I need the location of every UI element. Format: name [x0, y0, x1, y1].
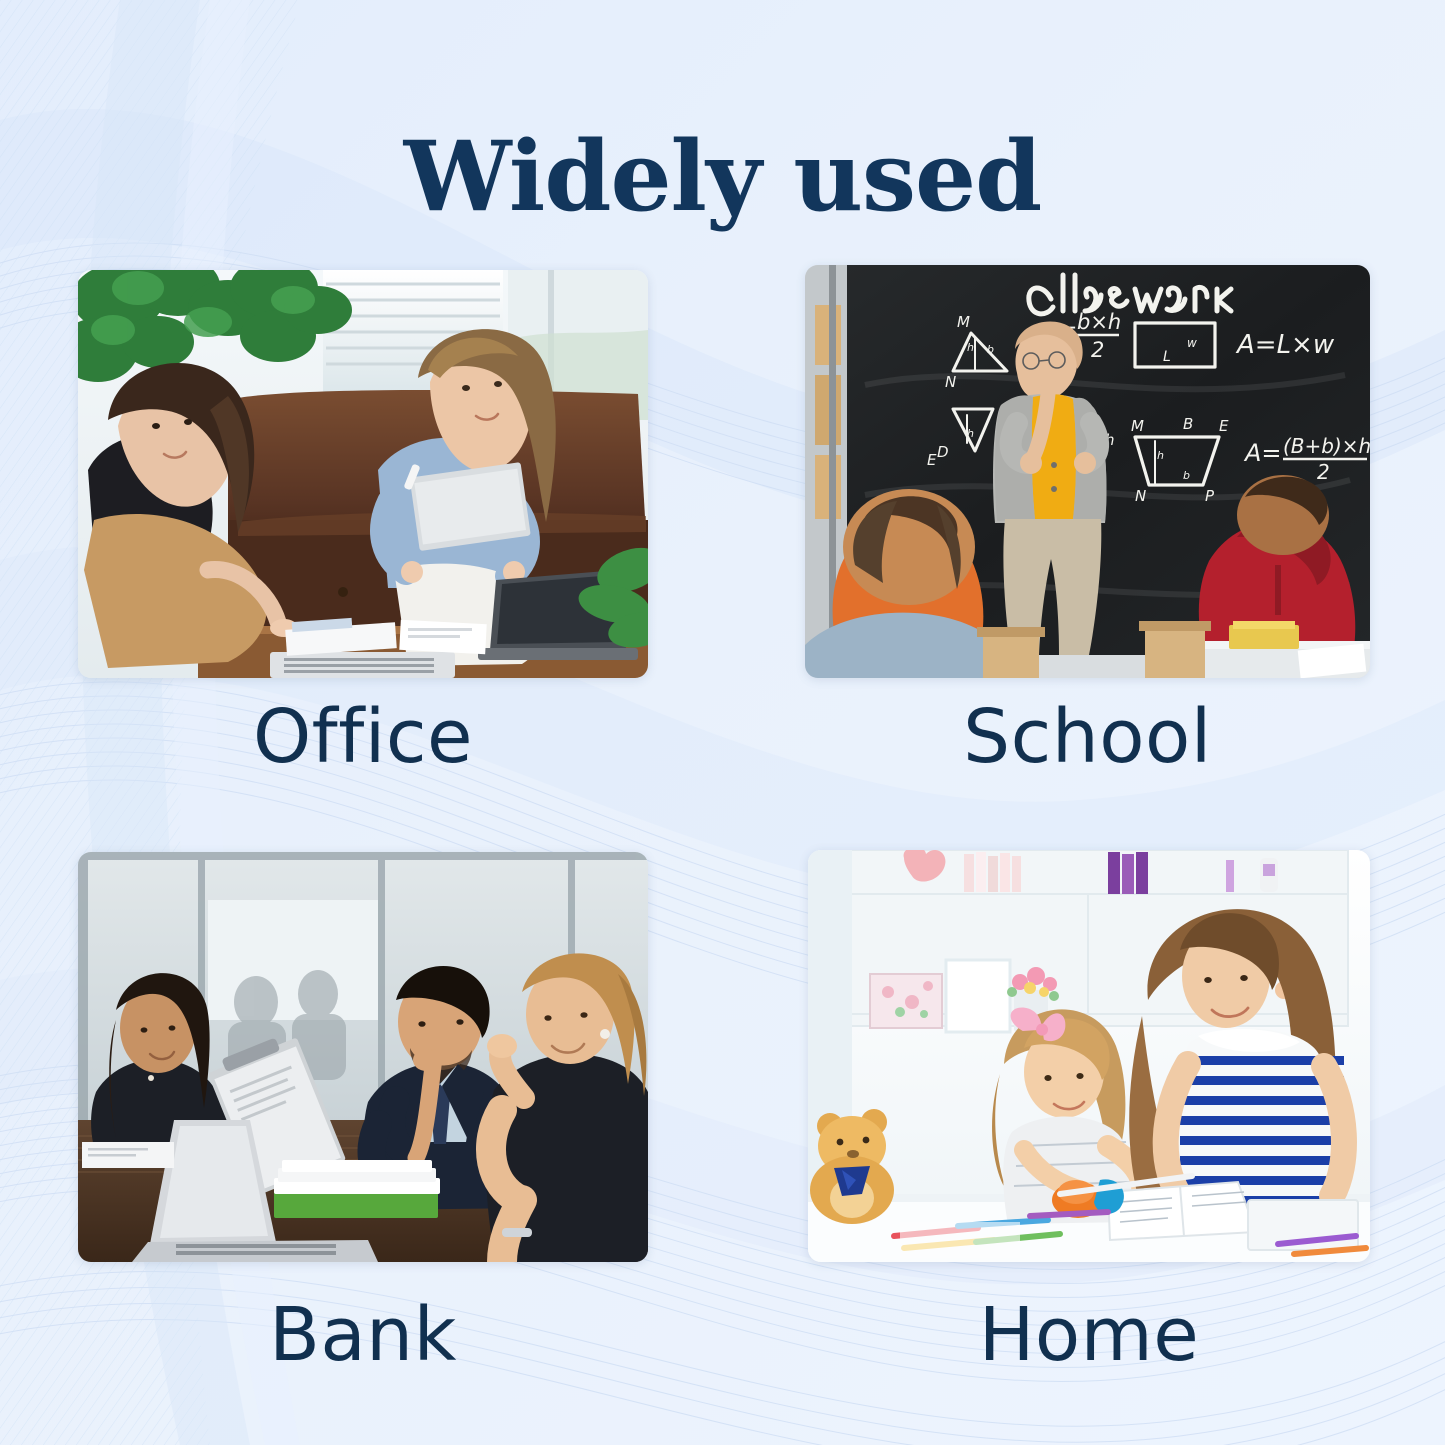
svg-text:h: h: [967, 341, 974, 354]
svg-text:(B+b)×h: (B+b)×h: [1283, 434, 1370, 458]
svg-text:E: E: [927, 451, 937, 469]
svg-text:b: b: [987, 343, 994, 356]
svg-text:M: M: [957, 313, 970, 331]
svg-text:b: b: [1183, 469, 1190, 482]
svg-text:P: P: [1205, 487, 1215, 505]
svg-text:N: N: [1135, 487, 1146, 505]
svg-text:2: 2: [1091, 338, 1104, 362]
svg-text:E: E: [1219, 417, 1229, 435]
svg-text:A=L×w: A=L×w: [1235, 330, 1335, 360]
svg-text:D: D: [937, 443, 949, 461]
caption-school: School: [805, 700, 1370, 774]
photo-home: [808, 850, 1370, 1262]
svg-text:M: M: [1131, 417, 1144, 435]
svg-text:B: B: [1183, 415, 1193, 433]
svg-text:h: h: [1157, 449, 1164, 462]
svg-text:N: N: [945, 373, 956, 391]
photo-bank: [78, 852, 648, 1262]
svg-text:w: w: [1187, 336, 1197, 350]
svg-text:L: L: [1163, 349, 1171, 365]
svg-text:A=: A=: [1243, 439, 1282, 467]
caption-bank: Bank: [78, 1298, 648, 1372]
page-title: Widely used: [0, 120, 1445, 233]
svg-text:h: h: [967, 427, 974, 440]
svg-text:b×h: b×h: [1077, 310, 1121, 334]
caption-home: Home: [808, 1298, 1370, 1372]
caption-office: Office: [78, 700, 648, 774]
photo-school: M N D E h b h w = b×h: [805, 265, 1370, 678]
photo-office: [78, 270, 648, 678]
marketing-slide: Widely used: [0, 0, 1445, 1445]
svg-text:2: 2: [1317, 460, 1330, 484]
